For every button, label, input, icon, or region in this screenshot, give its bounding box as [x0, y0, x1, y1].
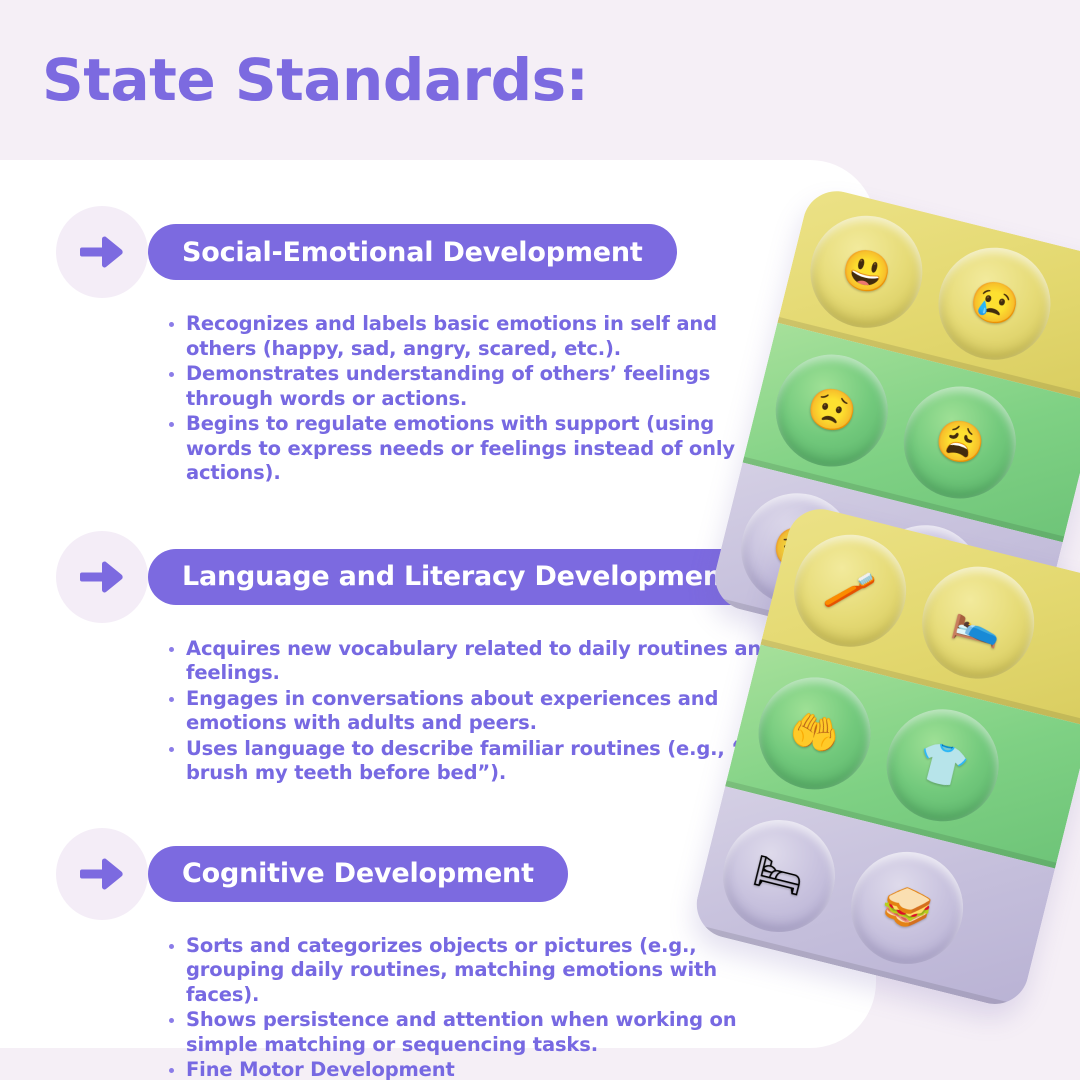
list-item: Begins to regulate emotions with support… — [167, 412, 777, 486]
section-header-pill[interactable]: Social-Emotional Development — [148, 224, 677, 280]
section-header: Language and Literacy Development — [0, 531, 880, 623]
infographic-page: State Standards: Social-Emotional Develo… — [0, 0, 1080, 1080]
section-header-label: Language and Literacy Development — [182, 561, 735, 592]
routine-glyph: 🛌 — [949, 598, 1007, 649]
list-item: Acquires new vocabulary related to daily… — [167, 637, 777, 686]
list-item: Demonstrates understanding of others’ fe… — [167, 362, 777, 411]
page-title: State Standards: — [42, 51, 588, 109]
standards-sections: Social-Emotional Development Recognizes … — [0, 160, 880, 1080]
section-language-and-literacy-development: Language and Literacy Development Acquir… — [0, 531, 880, 786]
routine-glyph: 👕 — [914, 740, 972, 791]
section-header: Social-Emotional Development — [0, 206, 880, 298]
emoji-glyph: 😠 — [896, 556, 954, 607]
section-header-pill[interactable]: Cognitive Development — [148, 846, 568, 902]
section-header-pill[interactable]: Language and Literacy Development — [148, 549, 769, 605]
list-item: Fine Motor Development — [167, 1058, 777, 1080]
title-bar: State Standards: — [0, 0, 1080, 160]
section-bullet-list: Sorts and categorizes objects or picture… — [167, 934, 777, 1080]
pop-bubble: 😢 — [927, 235, 1063, 371]
routine-glyph: 🥪 — [878, 882, 936, 933]
arrow-right-icon — [56, 206, 148, 298]
list-item: Sorts and categorizes objects or picture… — [167, 934, 777, 1008]
section-bullet-list: Recognizes and labels basic emotions in … — [167, 312, 777, 486]
list-item: Uses language to describe familiar routi… — [167, 737, 777, 786]
section-bullet-list: Acquires new vocabulary related to daily… — [167, 637, 777, 786]
list-item: Shows persistence and attention when wor… — [167, 1008, 777, 1057]
section-social-emotional-development: Social-Emotional Development Recognizes … — [0, 206, 880, 486]
arrow-right-icon — [56, 828, 148, 920]
emoji-glyph: 😢 — [966, 278, 1024, 329]
section-header-label: Social-Emotional Development — [182, 237, 643, 268]
section-cognitive-development: Cognitive Development Sorts and categori… — [0, 828, 880, 1080]
pop-bubble: 👕 — [875, 697, 1011, 833]
list-item: Engages in conversations about experienc… — [167, 687, 777, 736]
section-header-label: Cognitive Development — [182, 858, 534, 889]
pop-bubble: 😩 — [892, 375, 1028, 511]
list-item: Recognizes and labels basic emotions in … — [167, 312, 777, 361]
section-header: Cognitive Development — [0, 828, 880, 920]
pop-bubble: 🛌 — [910, 555, 1046, 691]
arrow-right-icon — [56, 531, 148, 623]
emoji-glyph: 😩 — [931, 417, 989, 468]
